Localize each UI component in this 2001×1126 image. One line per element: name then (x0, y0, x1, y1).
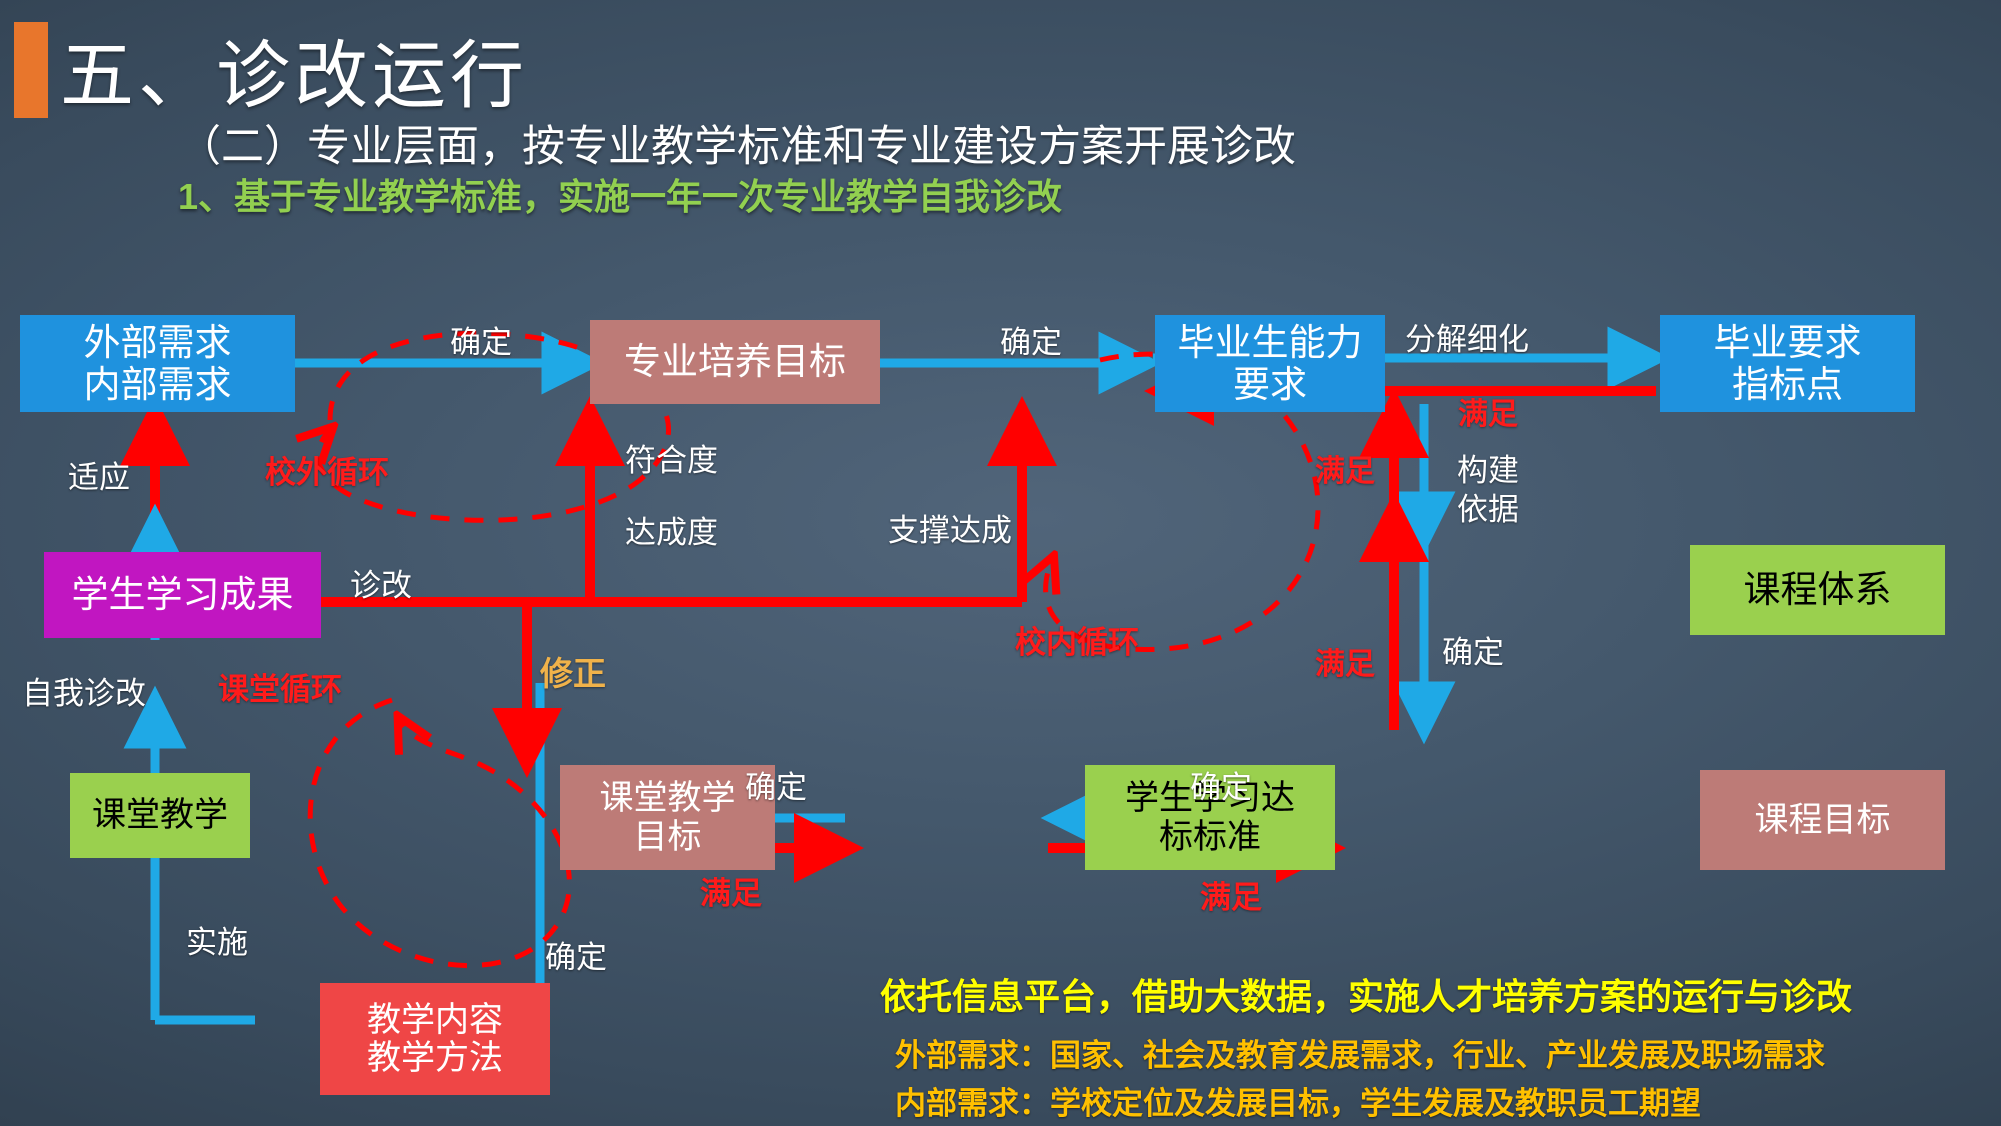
node-line: 内部需求 (84, 364, 232, 405)
edge-label-conformity: 符合度 (625, 443, 718, 479)
node-line: 教学内容 (367, 1001, 503, 1039)
node-line: 教学方法 (367, 1039, 503, 1077)
node-student-learning-outcome[interactable]: 学生学习成果 (44, 552, 321, 638)
edge-label-determine-bottom-left: 确定 (545, 940, 607, 976)
node-curriculum-system[interactable]: 课程体系 (1690, 545, 1945, 635)
edge-label-satisfy-bottom-mid: 满足 (700, 876, 762, 912)
edge-label-determine-right-lower: 确定 (1442, 635, 1504, 671)
edge-label-correct: 修正 (540, 655, 606, 693)
node-graduation-requirement-indicator[interactable]: 毕业要求 指标点 (1660, 315, 1915, 412)
edge-label-satisfy-top-right: 满足 (1458, 398, 1518, 433)
node-line: 外部需求 (84, 322, 232, 363)
node-line: 毕业生能力 (1178, 322, 1363, 363)
page-subtitle: （二）专业层面，按专业教学标准和专业建设方案开展诊改 (178, 112, 1296, 174)
node-course-objective[interactable]: 课程目标 (1700, 770, 1945, 870)
edge-label-self-diagnose: 自我诊改 (22, 676, 146, 712)
node-line: 标标准 (1125, 818, 1295, 856)
footnote-line-1: 依托信息平台，借助大数据，实施人才培养方案的运行与诊改 (880, 968, 1852, 1020)
node-classroom-teaching[interactable]: 课堂教学 (70, 773, 250, 858)
node-line: 毕业要求 (1714, 322, 1862, 363)
node-line: 专业培养目标 (624, 341, 846, 382)
edge-label-determine-2: 确定 (1000, 325, 1062, 361)
page-subtitle-secondary: 1、基于专业教学标准，实施一年一次专业教学自我诊改 (178, 168, 1062, 220)
page-title: 五、诊改运行 (60, 16, 528, 123)
node-line: 目标 (600, 818, 736, 856)
node-teaching-content-method[interactable]: 教学内容 教学方法 (320, 983, 550, 1095)
node-line: 指标点 (1714, 364, 1862, 405)
node-line: 要求 (1178, 364, 1363, 405)
node-graduate-ability-requirement[interactable]: 毕业生能力 要求 (1155, 315, 1385, 412)
slide-canvas: 五、诊改运行 （二）专业层面，按专业教学标准和专业建设方案开展诊改 1、基于专业… (0, 0, 2001, 1126)
edge-label-off-campus-cycle: 校外循环 (265, 455, 389, 491)
edge-label-classroom-cycle: 课堂循环 (218, 672, 342, 708)
edge-label-diagnose-improve: 诊改 (350, 568, 412, 604)
edge-label-build-basis: 构建依据 (1442, 452, 1534, 530)
edge-label-determine-bottom-right: 确定 (1190, 770, 1252, 806)
edge-label-support-achieve: 支撑达成 (888, 513, 1012, 549)
node-line: 课程体系 (1744, 569, 1892, 610)
edge-label-adapt: 适应 (68, 460, 130, 496)
edge-label-decompose-refine: 分解细化 (1405, 322, 1529, 358)
edge-label-determine-mid-bottom: 确定 (745, 770, 807, 806)
footnote-line-2: 外部需求：国家、社会及教育发展需求，行业、产业发展及职场需求 (895, 1030, 1825, 1075)
footnote-line-3: 内部需求：学校定位及发展目标，学生发展及教职员工期望 (895, 1078, 1701, 1123)
edge-label-satisfy-right-lower: 满足 (1315, 648, 1375, 683)
edge-label-satisfy-bottom-right: 满足 (1200, 880, 1262, 916)
node-line: 学生学习成果 (72, 574, 294, 615)
node-major-training-objective[interactable]: 专业培养目标 (590, 320, 880, 404)
edge-label-implement: 实施 (186, 925, 248, 961)
node-line: 课程目标 (1755, 801, 1891, 839)
node-classroom-teaching-objective[interactable]: 课堂教学 目标 (560, 765, 775, 870)
node-line: 课堂教学 (92, 796, 228, 834)
node-external-internal-demand[interactable]: 外部需求 内部需求 (20, 315, 295, 412)
edge-label-achievement: 达成度 (625, 515, 718, 551)
edge-label-on-campus-cycle: 校内循环 (1015, 625, 1139, 661)
edge-label-satisfy-right-upper: 满足 (1315, 455, 1375, 490)
node-line: 课堂教学 (600, 779, 736, 817)
edge-label-determine-1: 确定 (450, 325, 512, 361)
title-accent-bar (14, 22, 48, 118)
